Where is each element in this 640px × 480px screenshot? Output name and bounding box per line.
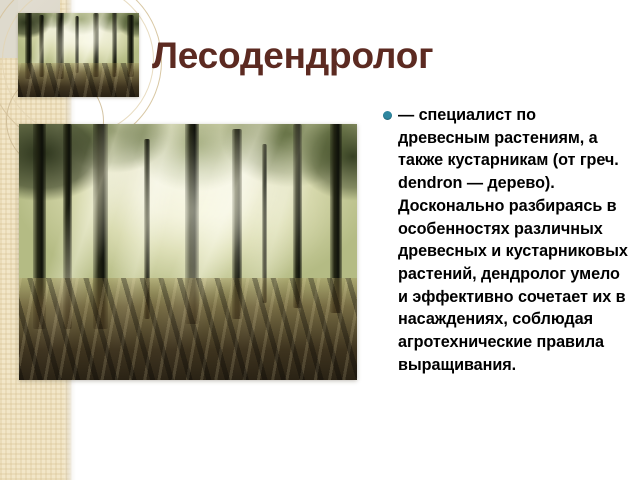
photo-ground-layer [19, 278, 357, 380]
body-text-block: — специалист по древесным растениям, а т… [380, 104, 632, 376]
bullet-dot-icon [383, 111, 392, 120]
slide-canvas: Лесодендролог — специалист по древесным … [0, 0, 640, 480]
body-paragraph: — специалист по древесным растениям, а т… [398, 106, 628, 374]
forest-photo-top [18, 13, 139, 97]
photo-ground-layer [18, 63, 139, 97]
list-item: — специалист по древесным растениям, а т… [380, 104, 632, 376]
forest-photo-main [19, 124, 357, 380]
page-title: Лесодендролог [152, 36, 622, 76]
